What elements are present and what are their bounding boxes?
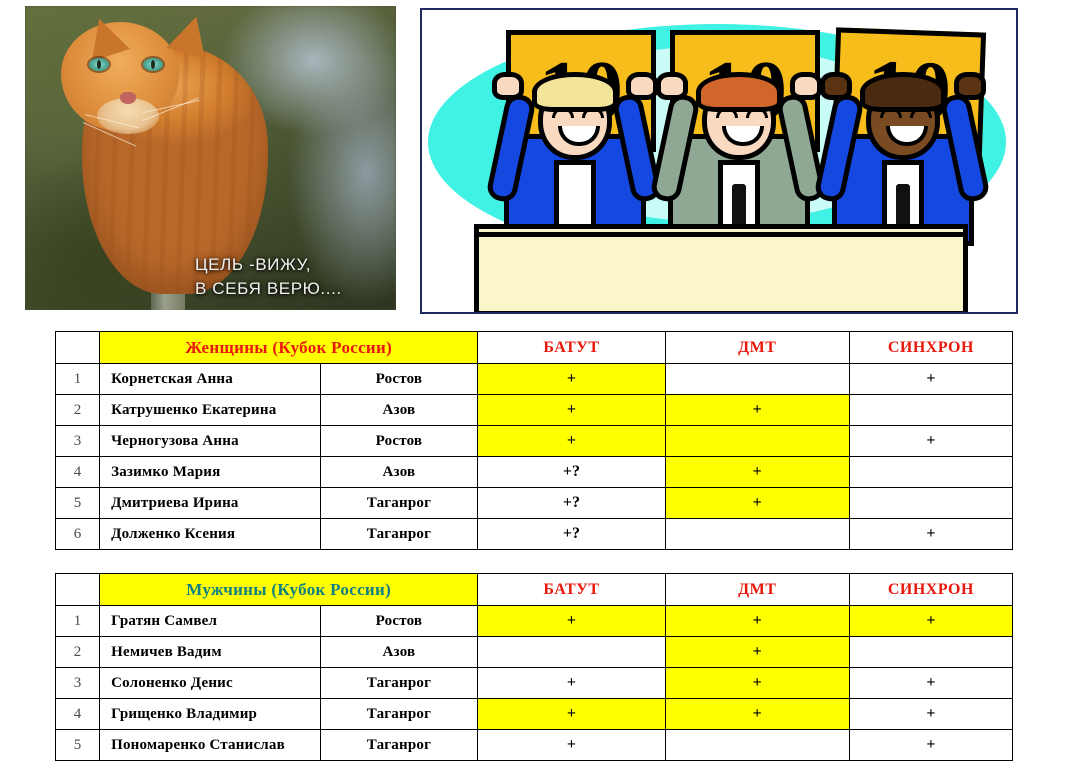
row-index: 1 <box>56 364 100 395</box>
row-index: 3 <box>56 668 100 699</box>
athlete-city: Таганрог <box>320 730 478 761</box>
mark-dmt <box>665 364 849 395</box>
judge-3-hand-right <box>954 72 986 100</box>
three-judges-scorecards-clipart: 10 10 10 <box>420 8 1018 314</box>
mark-sinhron <box>849 457 1012 488</box>
mark-batut: + <box>478 699 665 730</box>
men-corner-cell <box>56 574 100 606</box>
athlete-name: Пономаренко Станислав <box>100 730 321 761</box>
roster-table-men: Мужчины (Кубок России) БАТУТ ДМТ СИНХРОН… <box>55 573 1013 761</box>
row-index: 4 <box>56 699 100 730</box>
athlete-name: Зазимко Мария <box>100 457 321 488</box>
row-index: 3 <box>56 426 100 457</box>
mark-sinhron <box>849 637 1012 668</box>
athlete-city: Таганрог <box>320 699 478 730</box>
mark-batut <box>478 637 665 668</box>
mark-batut: + <box>478 730 665 761</box>
row-index: 2 <box>56 637 100 668</box>
athlete-name: Немичев Вадим <box>100 637 321 668</box>
table-women-title-row: Женщины (Кубок России) БАТУТ ДМТ СИНХРОН <box>56 332 1013 364</box>
women-corner-cell <box>56 332 100 364</box>
mark-batut: +? <box>478 519 665 550</box>
mark-sinhron: + <box>849 668 1012 699</box>
mark-dmt: + <box>665 395 849 426</box>
athlete-city: Азов <box>320 637 478 668</box>
women-header-dmt: ДМТ <box>665 332 849 364</box>
mark-batut: +? <box>478 488 665 519</box>
athlete-city: Ростов <box>320 606 478 637</box>
mark-sinhron <box>849 395 1012 426</box>
row-index: 1 <box>56 606 100 637</box>
table-row: 2 Катрушенко Екатерина Азов + + <box>56 395 1013 426</box>
mark-sinhron: + <box>849 699 1012 730</box>
judge-3-hair <box>860 72 946 112</box>
athlete-city: Ростов <box>320 426 478 457</box>
women-header-batut: БАТУТ <box>478 332 665 364</box>
judge-2-hand-left <box>656 72 688 100</box>
mark-batut: + <box>478 395 665 426</box>
judge-2-hand-right <box>790 72 822 100</box>
header-image-strip: ЦЕЛЬ -ВИЖУ, В СЕБЯ ВЕРЮ.... 10 10 10 <box>0 0 1082 318</box>
mark-sinhron <box>849 488 1012 519</box>
athlete-city: Таганрог <box>320 519 478 550</box>
judge-1-hand-left <box>492 72 524 100</box>
mark-dmt <box>665 426 849 457</box>
athlete-name: Катрушенко Екатерина <box>100 395 321 426</box>
mark-dmt: + <box>665 637 849 668</box>
mark-dmt <box>665 519 849 550</box>
athlete-city: Таганрог <box>320 668 478 699</box>
athlete-city: Таганрог <box>320 488 478 519</box>
men-header-sinhron: СИНХРОН <box>849 574 1012 606</box>
athlete-city: Ростов <box>320 364 478 395</box>
cat-photo-caption: ЦЕЛЬ -ВИЖУ, В СЕБЯ ВЕРЮ.... <box>195 253 342 302</box>
row-index: 2 <box>56 395 100 426</box>
roster-table-women: Женщины (Кубок России) БАТУТ ДМТ СИНХРОН… <box>55 331 1013 550</box>
mark-batut: + <box>478 364 665 395</box>
mark-dmt: + <box>665 457 849 488</box>
athlete-name: Солоненко Денис <box>100 668 321 699</box>
mark-batut: + <box>478 606 665 637</box>
table-row: 2 Немичев Вадим Азов + <box>56 637 1013 668</box>
table-row: 4 Зазимко Мария Азов +? + <box>56 457 1013 488</box>
athlete-name: Грищенко Владимир <box>100 699 321 730</box>
athlete-name: Дмитриева Ирина <box>100 488 321 519</box>
mark-sinhron: + <box>849 519 1012 550</box>
cat-eye-right <box>143 58 163 71</box>
athlete-name: Черногузова Анна <box>100 426 321 457</box>
judge-1-hand-right <box>626 72 658 100</box>
judges-desk <box>474 232 968 314</box>
cat-nose <box>120 92 136 104</box>
judge-2-hair <box>696 72 782 112</box>
table-row: 3 Солоненко Денис Таганрог + + + <box>56 668 1013 699</box>
mark-batut: + <box>478 668 665 699</box>
row-index: 4 <box>56 457 100 488</box>
cat-eye-left <box>89 58 109 71</box>
mark-dmt <box>665 730 849 761</box>
mark-sinhron: + <box>849 606 1012 637</box>
table-row: 1 Гратян Самвел Ростов + + + <box>56 606 1013 637</box>
row-index: 6 <box>56 519 100 550</box>
table-row: 5 Пономаренко Станислав Таганрог + + <box>56 730 1013 761</box>
judge-3-hand-left <box>820 72 852 100</box>
table-row: 5 Дмитриева Ирина Таганрог +? + <box>56 488 1013 519</box>
table-row: 4 Грищенко Владимир Таганрог + + + <box>56 699 1013 730</box>
men-header-dmt: ДМТ <box>665 574 849 606</box>
row-index: 5 <box>56 730 100 761</box>
women-table-title: Женщины (Кубок России) <box>100 332 478 364</box>
mark-dmt: + <box>665 606 849 637</box>
row-index: 5 <box>56 488 100 519</box>
mark-dmt: + <box>665 668 849 699</box>
athlete-name: Корнетская Анна <box>100 364 321 395</box>
mark-dmt: + <box>665 699 849 730</box>
mark-dmt: + <box>665 488 849 519</box>
women-header-sinhron: СИНХРОН <box>849 332 1012 364</box>
athlete-name: Гратян Самвел <box>100 606 321 637</box>
mark-batut: + <box>478 426 665 457</box>
table-row: 3 Черногузова Анна Ростов + + <box>56 426 1013 457</box>
mark-sinhron: + <box>849 730 1012 761</box>
men-header-batut: БАТУТ <box>478 574 665 606</box>
mark-sinhron: + <box>849 364 1012 395</box>
mark-sinhron: + <box>849 426 1012 457</box>
motivational-cat-photo: ЦЕЛЬ -ВИЖУ, В СЕБЯ ВЕРЮ.... <box>25 6 396 310</box>
judge-1-hair <box>532 72 618 112</box>
athlete-city: Азов <box>320 395 478 426</box>
mark-batut: +? <box>478 457 665 488</box>
athlete-city: Азов <box>320 457 478 488</box>
men-table-title: Мужчины (Кубок России) <box>100 574 478 606</box>
table-row: 6 Долженко Ксения Таганрог +? + <box>56 519 1013 550</box>
athlete-name: Долженко Ксения <box>100 519 321 550</box>
table-row: 1 Корнетская Анна Ростов + + <box>56 364 1013 395</box>
table-men-title-row: Мужчины (Кубок России) БАТУТ ДМТ СИНХРОН <box>56 574 1013 606</box>
